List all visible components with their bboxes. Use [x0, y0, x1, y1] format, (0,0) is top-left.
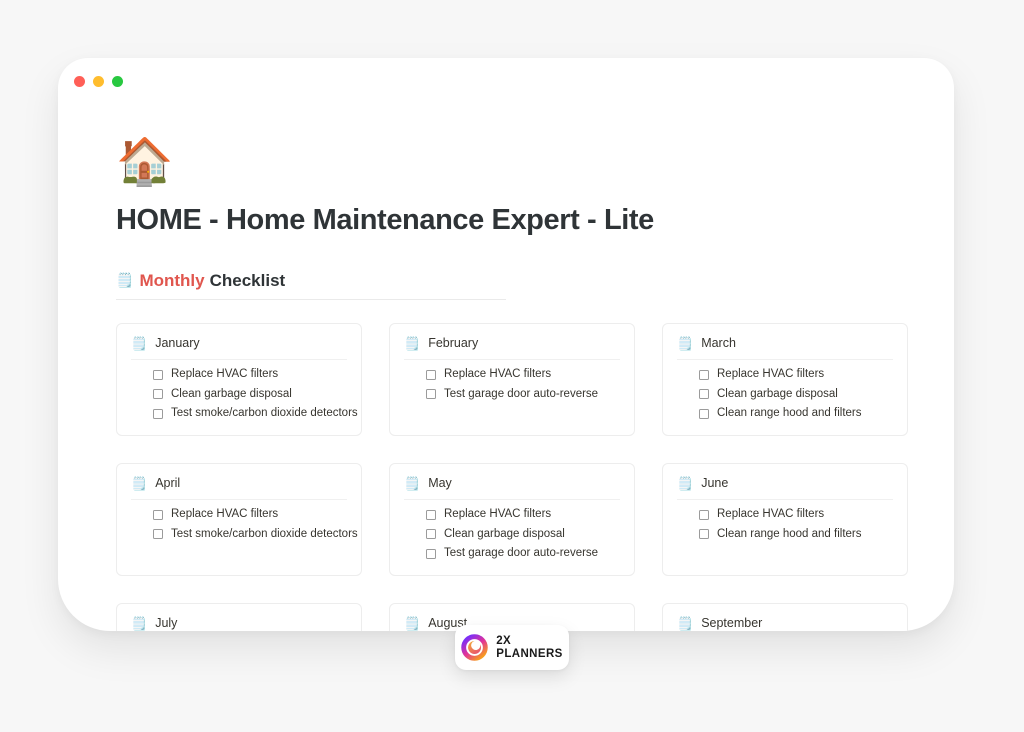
month-card-header: 🗒️March: [677, 336, 893, 360]
month-card-header: 🗒️April: [131, 476, 347, 500]
month-card-header: 🗒️May: [404, 476, 620, 500]
month-card: 🗒️JulyReplace HVAC filters: [116, 603, 362, 631]
task-item[interactable]: Clean range hood and filters: [699, 529, 893, 541]
month-card-header: 🗒️June: [677, 476, 893, 500]
task-item[interactable]: Clean garbage disposal: [153, 389, 347, 401]
task-item[interactable]: Clean garbage disposal: [426, 529, 620, 541]
task-checkbox[interactable]: [153, 389, 163, 399]
task-list: Replace HVAC filtersClean garbage dispos…: [131, 369, 347, 420]
task-item[interactable]: Clean garbage disposal: [699, 389, 893, 401]
planners-logo-icon: [461, 634, 488, 661]
task-item[interactable]: Replace HVAC filters: [153, 509, 347, 521]
month-card-grid: 🗒️JanuaryReplace HVAC filtersClean garba…: [116, 323, 916, 631]
task-checkbox[interactable]: [426, 370, 436, 380]
notepad-icon: 🗒️: [404, 617, 420, 630]
task-list: Replace HVAC filtersTest garage door aut…: [404, 369, 620, 400]
task-checkbox[interactable]: [699, 370, 709, 380]
task-item[interactable]: Test smoke/carbon dioxide detectors: [153, 408, 347, 420]
task-label: Test garage door auto-reverse: [444, 548, 598, 560]
month-card: 🗒️JuneReplace HVAC filtersClean range ho…: [662, 463, 908, 576]
page-content: 🏠 HOME - Home Maintenance Expert - Lite …: [58, 104, 954, 631]
task-checkbox[interactable]: [153, 370, 163, 380]
task-checkbox[interactable]: [426, 510, 436, 520]
task-label: Replace HVAC filters: [444, 509, 551, 521]
notepad-icon: 🗒️: [404, 337, 420, 350]
month-card: 🗒️AprilReplace HVAC filtersTest smoke/ca…: [116, 463, 362, 576]
month-card-header: 🗒️July: [131, 616, 347, 631]
month-card-header: 🗒️January: [131, 336, 347, 360]
task-item[interactable]: Test garage door auto-reverse: [426, 548, 620, 560]
task-list: Replace HVAC filtersClean garbage dispos…: [677, 369, 893, 420]
month-card-header: 🗒️September: [677, 616, 893, 631]
notepad-icon: 🗒️: [116, 272, 133, 289]
task-checkbox[interactable]: [699, 529, 709, 539]
month-card: 🗒️MarchReplace HVAC filtersClean garbage…: [662, 323, 908, 436]
month-card-title: March: [701, 336, 736, 350]
task-item[interactable]: Test garage door auto-reverse: [426, 389, 620, 401]
notepad-icon: 🗒️: [404, 477, 420, 490]
task-label: Clean range hood and filters: [717, 529, 862, 541]
task-item[interactable]: Clean range hood and filters: [699, 408, 893, 420]
task-label: Replace HVAC filters: [717, 509, 824, 521]
section-heading-accent: Monthly: [139, 271, 204, 291]
section-divider: [116, 299, 506, 300]
page-title: HOME - Home Maintenance Expert - Lite: [116, 204, 916, 237]
notepad-icon: 🗒️: [131, 617, 147, 630]
month-card: 🗒️MayReplace HVAC filtersClean garbage d…: [389, 463, 635, 576]
house-icon: 🏠: [116, 138, 916, 190]
month-card: 🗒️FebruaryReplace HVAC filtersTest garag…: [389, 323, 635, 436]
notepad-icon: 🗒️: [131, 337, 147, 350]
month-card-title: January: [155, 336, 199, 350]
task-label: Replace HVAC filters: [717, 369, 824, 381]
month-card-title: May: [428, 476, 452, 490]
task-item[interactable]: Test smoke/carbon dioxide detectors: [153, 529, 347, 541]
notepad-icon: 🗒️: [131, 477, 147, 490]
task-checkbox[interactable]: [699, 409, 709, 419]
task-checkbox[interactable]: [426, 549, 436, 559]
maximize-button[interactable]: [112, 76, 123, 87]
brand-badge: 2X PLANNERS: [455, 625, 569, 670]
month-card: 🗒️SeptemberReplace HVAC filters: [662, 603, 908, 631]
month-card-title: February: [428, 336, 478, 350]
task-label: Test garage door auto-reverse: [444, 389, 598, 401]
month-card-title: September: [701, 616, 762, 630]
notepad-icon: 🗒️: [677, 337, 693, 350]
brand-wordmark: 2X PLANNERS: [496, 635, 562, 660]
task-checkbox[interactable]: [426, 529, 436, 539]
task-label: Clean garbage disposal: [717, 389, 838, 401]
task-list: Replace HVAC filtersClean garbage dispos…: [404, 509, 620, 560]
month-card-title: July: [155, 616, 177, 630]
task-label: Replace HVAC filters: [444, 369, 551, 381]
month-card-header: 🗒️February: [404, 336, 620, 360]
task-item[interactable]: Replace HVAC filters: [426, 369, 620, 381]
task-item[interactable]: Replace HVAC filters: [699, 369, 893, 381]
minimize-button[interactable]: [93, 76, 104, 87]
month-card-title: June: [701, 476, 728, 490]
task-checkbox[interactable]: [426, 389, 436, 399]
task-item[interactable]: Replace HVAC filters: [426, 509, 620, 521]
notepad-icon: 🗒️: [677, 617, 693, 630]
brand-line-2: PLANNERS: [496, 648, 562, 660]
task-checkbox[interactable]: [699, 510, 709, 520]
section-heading: 🗒️ Monthly Checklist: [116, 271, 506, 291]
task-item[interactable]: Replace HVAC filters: [699, 509, 893, 521]
task-checkbox[interactable]: [153, 409, 163, 419]
task-label: Test smoke/carbon dioxide detectors: [171, 408, 358, 420]
task-label: Clean garbage disposal: [444, 529, 565, 541]
task-checkbox[interactable]: [699, 389, 709, 399]
task-label: Replace HVAC filters: [171, 369, 278, 381]
task-label: Clean garbage disposal: [171, 389, 292, 401]
task-checkbox[interactable]: [153, 510, 163, 520]
task-list: Replace HVAC filtersClean range hood and…: [677, 509, 893, 540]
month-card-title: April: [155, 476, 180, 490]
notepad-icon: 🗒️: [677, 477, 693, 490]
app-window: 🏠 HOME - Home Maintenance Expert - Lite …: [58, 58, 954, 631]
month-card: 🗒️JanuaryReplace HVAC filtersClean garba…: [116, 323, 362, 436]
brand-line-1: 2X: [496, 635, 562, 647]
section-header-block: 🗒️ Monthly Checklist: [116, 271, 506, 300]
task-label: Test smoke/carbon dioxide detectors: [171, 529, 358, 541]
window-titlebar: [58, 58, 954, 104]
close-button[interactable]: [74, 76, 85, 87]
task-label: Clean range hood and filters: [717, 408, 862, 420]
task-list: Replace HVAC filtersTest smoke/carbon di…: [131, 509, 347, 540]
task-label: Replace HVAC filters: [171, 509, 278, 521]
task-item[interactable]: Replace HVAC filters: [153, 369, 347, 381]
task-checkbox[interactable]: [153, 529, 163, 539]
section-heading-rest: Checklist: [210, 271, 286, 291]
